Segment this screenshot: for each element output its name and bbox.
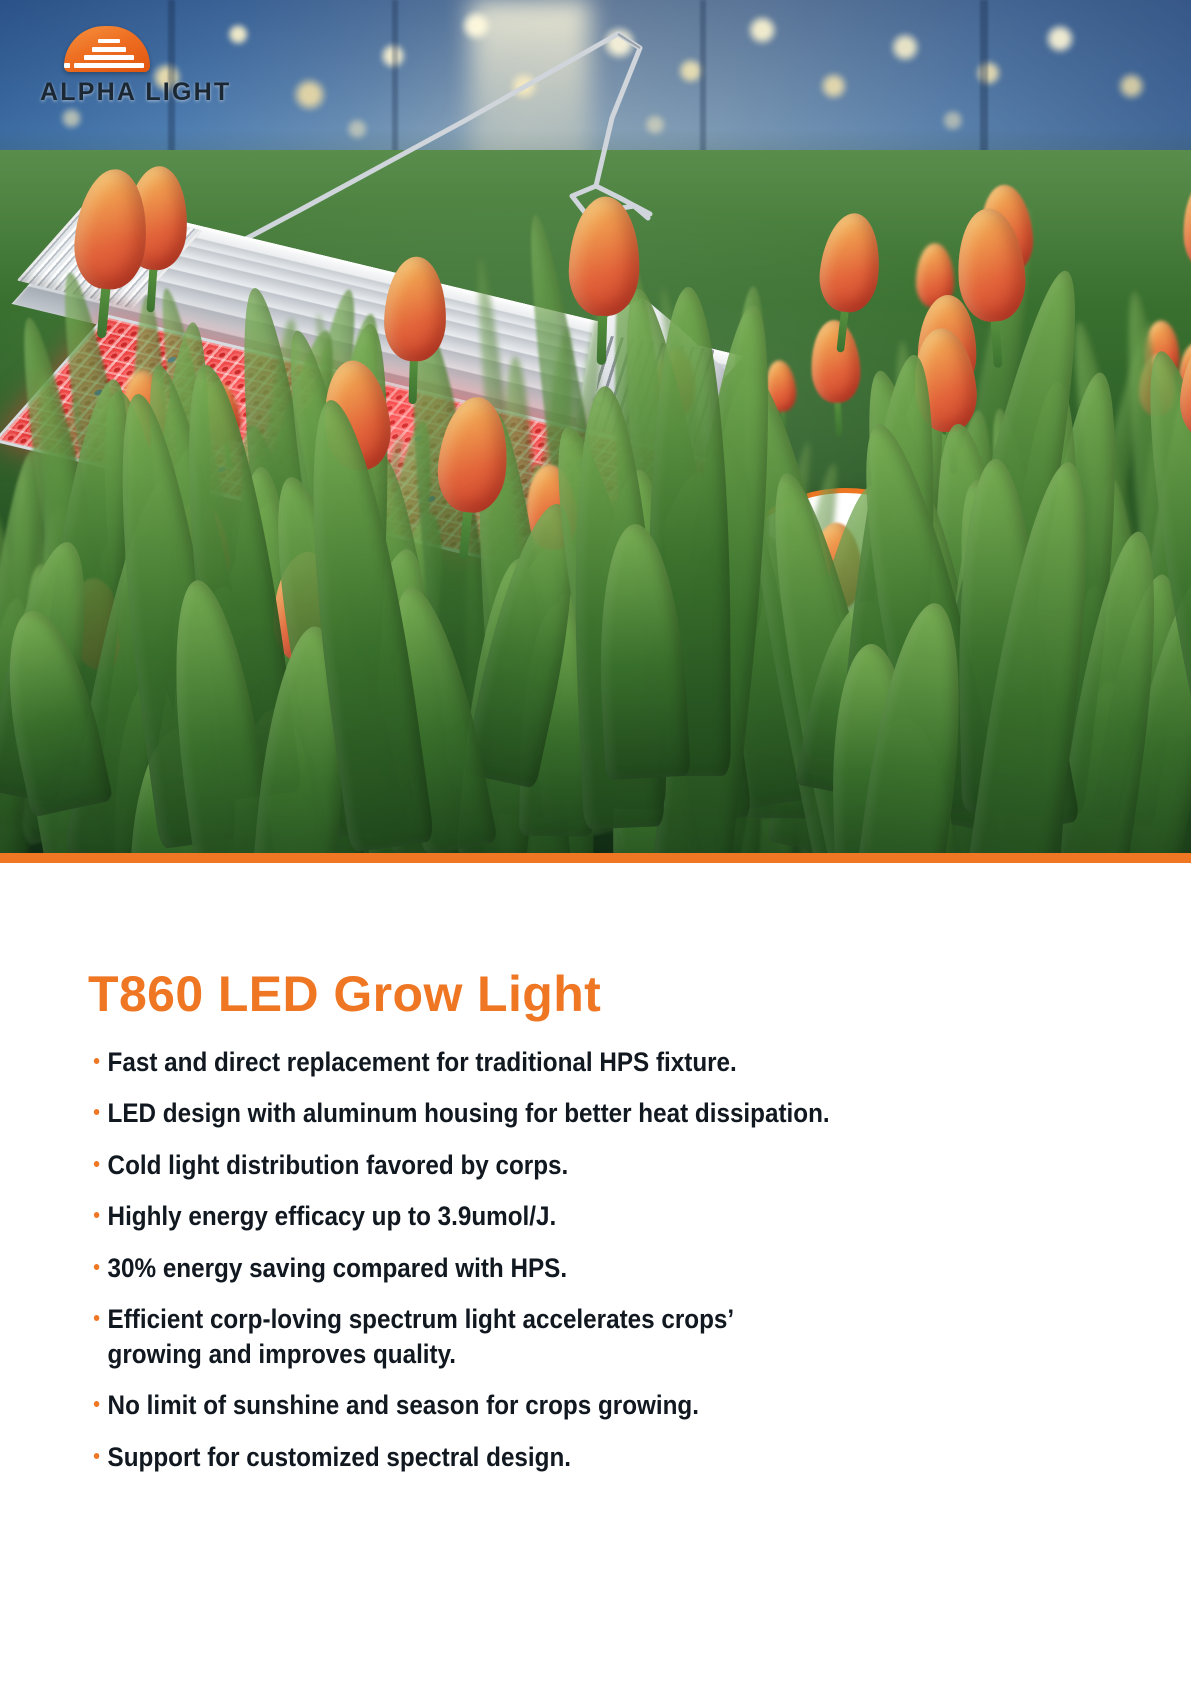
tulip-bloom	[383, 256, 448, 386]
content-section: T860 LED Grow Light Fast and direct repl…	[0, 863, 1191, 1684]
tulip-bud	[954, 206, 1028, 323]
leaf-blades	[0, 150, 1191, 853]
tulip-bloom	[431, 394, 512, 542]
feature-item: Efficient corp-loving spectrum light acc…	[92, 1302, 1007, 1371]
tulip-bud	[568, 195, 642, 316]
tulip-bud	[434, 394, 513, 515]
feature-item: 30% energy saving compared with HPS.	[92, 1251, 1007, 1285]
feature-item: LED design with aluminum housing for bet…	[92, 1096, 1007, 1130]
brand-name: ALPHA LIGHT	[40, 78, 231, 107]
feature-list: Fast and direct replacement for traditio…	[92, 1045, 1092, 1491]
hero-banner: ALPHA LIGHT	[0, 0, 1191, 853]
sun-rays-icon	[64, 26, 150, 72]
tulip-bud	[816, 211, 885, 316]
tulip-bud	[1181, 178, 1191, 273]
tulip-bloom	[567, 195, 642, 344]
tulip-bloom	[1181, 178, 1191, 295]
tulip-bud	[71, 166, 153, 292]
tulip-bloom	[68, 166, 152, 320]
tulip-field	[0, 150, 1191, 853]
tulip-bud	[383, 256, 448, 362]
feature-item: No limit of sunshine and season for crop…	[92, 1388, 1007, 1422]
feature-item: Fast and direct replacement for traditio…	[92, 1045, 1007, 1079]
feature-item: Highly energy efficacy up to 3.9umol/J.	[92, 1199, 1007, 1233]
tulip-bloom	[954, 206, 1030, 350]
brand-logo: ALPHA LIGHT	[38, 26, 238, 122]
page-title: T860 LED Grow Light	[88, 965, 601, 1023]
feature-item: Support for customized spectral design.	[92, 1440, 1007, 1474]
accent-divider	[0, 853, 1191, 863]
feature-item: Cold light distribution favored by corps…	[92, 1148, 1007, 1182]
tulip-bloom	[813, 211, 885, 339]
